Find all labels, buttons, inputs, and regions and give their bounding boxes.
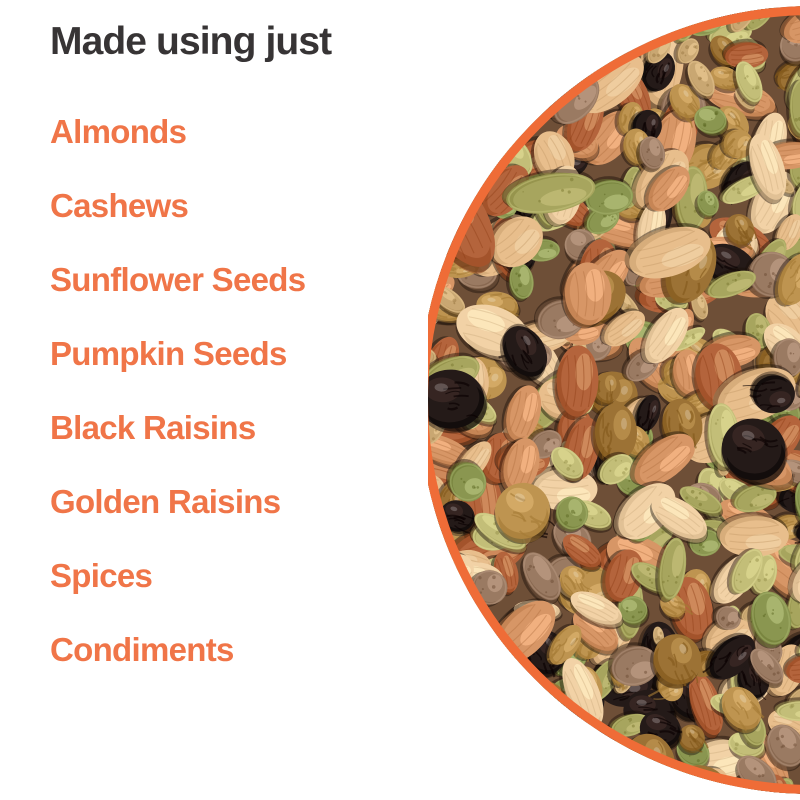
ingredient-label: Spices [50,559,152,594]
ingredient-label: Pumpkin Seeds [50,337,287,372]
list-item: Cashews [50,169,450,243]
list-item: Black Raisins [50,391,450,465]
ingredient-label: Condiments [50,633,234,668]
promo-graphic: Made using just Almonds Cashews Sunflowe… [0,0,800,800]
list-item: Almonds [50,95,450,169]
list-item: Condiments [50,613,450,687]
ingredient-list: Almonds Cashews Sunflower Seeds Pumpkin … [50,95,450,687]
list-item: Golden Raisins [50,465,450,539]
list-item: Spices [50,539,450,613]
photo-circle-border [428,0,800,800]
ingredient-text-column: Made using just Almonds Cashews Sunflowe… [50,0,450,800]
trail-mix-photo [428,0,800,800]
list-item: Pumpkin Seeds [50,317,450,391]
ingredient-label: Black Raisins [50,411,256,446]
ingredient-label: Golden Raisins [50,485,280,520]
ingredient-label: Cashews [50,189,188,224]
ingredient-label: Almonds [50,115,186,150]
page-title: Made using just [50,22,331,63]
ingredient-label: Sunflower Seeds [50,263,305,298]
list-item: Sunflower Seeds [50,243,450,317]
